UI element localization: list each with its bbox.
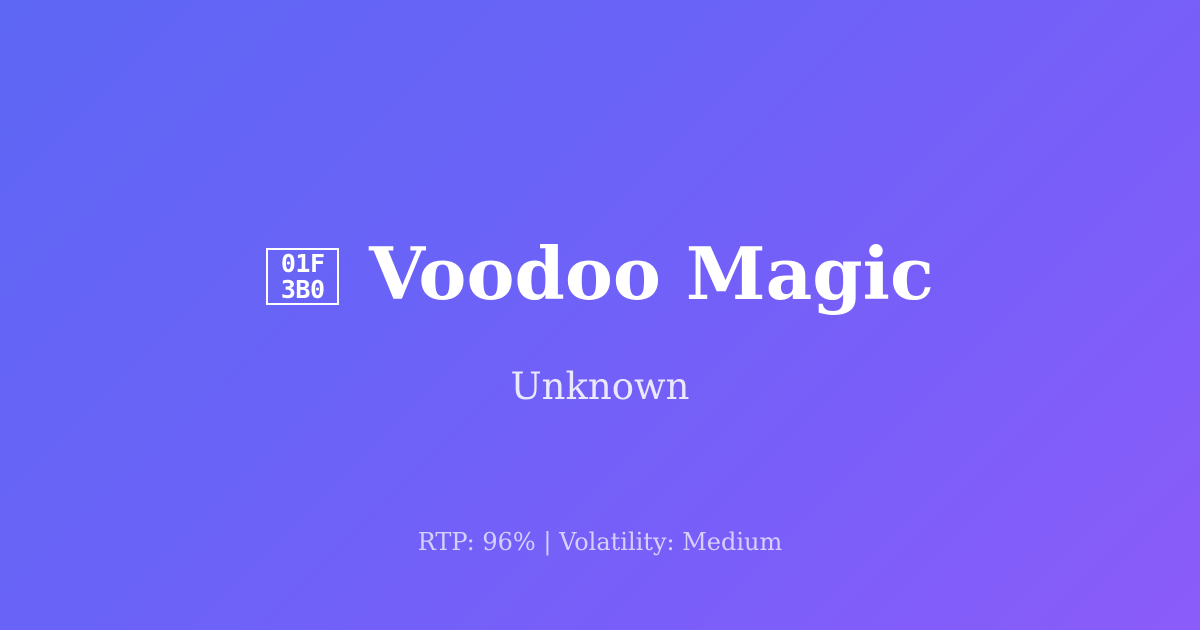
- page-subtitle: Unknown: [0, 364, 1200, 410]
- game-stats-meta: RTP: 96% | Volatility: Medium: [0, 527, 1200, 557]
- title-row: 01F 3B0 Voodoo Magic: [0, 228, 1200, 320]
- page-title: Voodoo Magic: [369, 234, 934, 314]
- og-preview-card: 01F 3B0 Voodoo Magic Unknown RTP: 96% | …: [0, 0, 1200, 630]
- slot-machine-tofu-icon: 01F 3B0: [266, 248, 339, 305]
- tofu-codepoint-top: 01F: [281, 251, 325, 277]
- tofu-codepoint-bottom: 3B0: [281, 277, 325, 303]
